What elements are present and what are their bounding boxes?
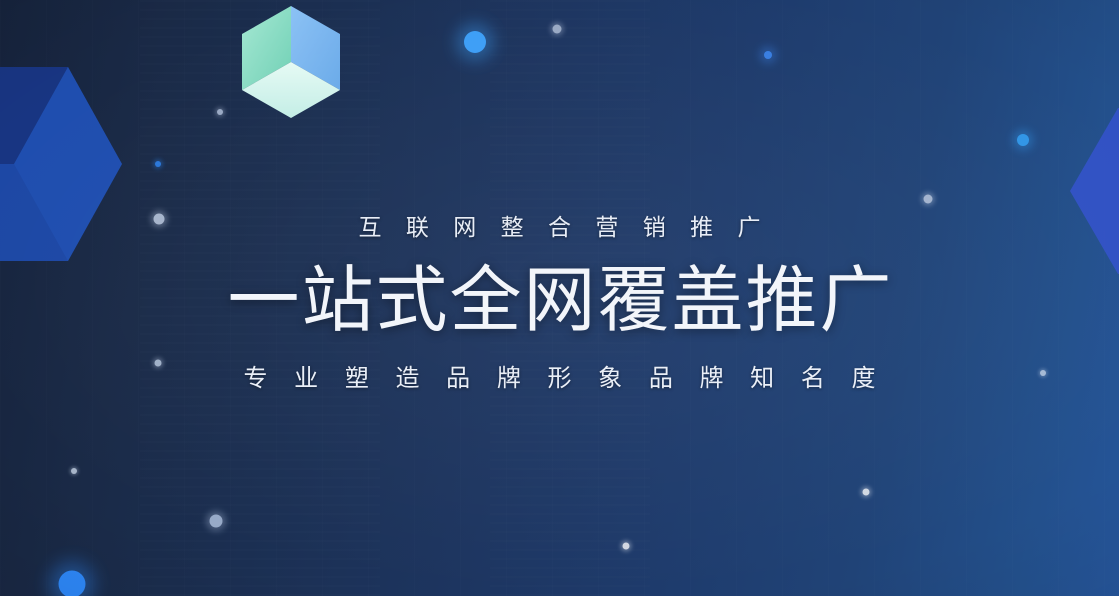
hero-eyebrow: 互 联 网 整 合 营 销 推 广 bbox=[0, 216, 1119, 239]
hero-banner: 互 联 网 整 合 营 销 推 广 一站式全网覆盖推广 专 业 塑 造 品 牌 … bbox=[0, 0, 1119, 596]
hero-subtitle: 专 业 塑 造 品 牌 形 象 品 牌 知 名 度 bbox=[0, 367, 1119, 391]
hero-text-block: 互 联 网 整 合 营 销 推 广 一站式全网覆盖推广 专 业 塑 造 品 牌 … bbox=[0, 216, 1119, 391]
page-title: 一站式全网覆盖推广 bbox=[0, 265, 1119, 337]
